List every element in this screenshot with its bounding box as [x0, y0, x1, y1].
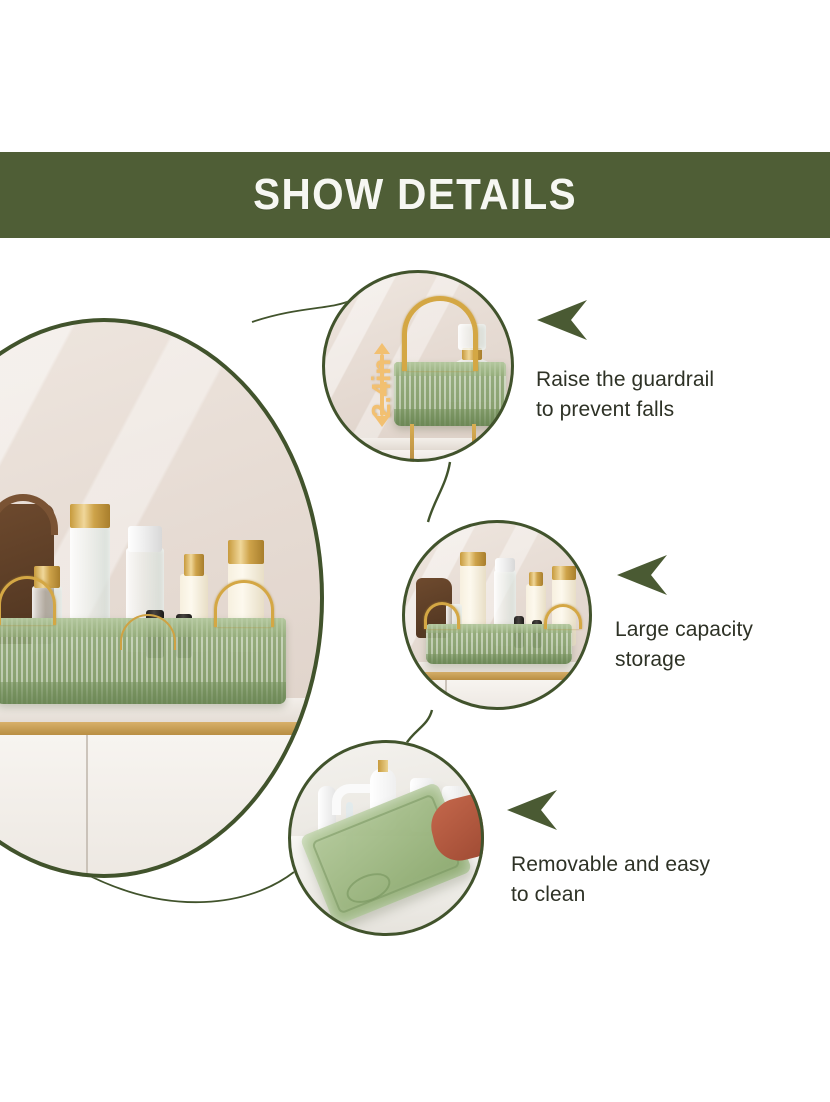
detail1-cabinet — [322, 450, 514, 462]
organizer-tray — [426, 624, 572, 664]
measure-arrow-head-up — [374, 343, 390, 354]
bottle-cap-gold — [184, 554, 204, 576]
dispenser-cap-gold — [378, 760, 388, 772]
feature-caption-cleaning: Removable and easy to clean — [511, 850, 811, 910]
feature-caption-capacity: Large capacity storage — [615, 615, 830, 675]
detail-photo-capacity — [402, 520, 592, 710]
measure-arrow-shaft — [380, 354, 384, 416]
pointer-arrow-capacity — [611, 553, 669, 597]
left-dart-arrow-icon — [501, 788, 559, 832]
bottle-cap-gold — [552, 566, 576, 580]
bottle-cap-gold — [70, 504, 110, 528]
hero-counter-edge — [0, 722, 324, 735]
left-dart-arrow-icon — [531, 298, 589, 342]
bottle-cap-gold — [460, 552, 486, 566]
left-dart-arrow-icon — [611, 553, 669, 597]
hero-scene — [0, 318, 324, 878]
detail2-cabinet — [402, 680, 592, 710]
pointer-arrow-guardrail — [531, 298, 589, 342]
tray-stand-leg — [472, 424, 476, 462]
bottle-cap-white — [128, 526, 162, 552]
bottle-cap-gold — [228, 540, 264, 564]
cabinet-seam — [86, 735, 88, 878]
tray-base — [0, 682, 286, 704]
pointer-arrow-cleaning — [501, 788, 559, 832]
detail-photo-cleaning — [288, 740, 484, 936]
detail2-counter-edge — [402, 672, 592, 680]
detail1-counter — [322, 438, 514, 450]
infographic-stage: SHOW DETAILS — [0, 0, 830, 1102]
tray-closeup — [394, 362, 506, 426]
main-product-photo — [0, 318, 324, 878]
section-header-banner: SHOW DETAILS — [0, 152, 830, 238]
tray-stand-leg — [410, 424, 414, 462]
hero-cabinet — [0, 735, 324, 878]
detail-photo-guardrail: 2.4in — [322, 270, 514, 462]
cabinet-seam — [445, 680, 447, 710]
feature-caption-guardrail: Raise the guardrail to prevent falls — [536, 365, 806, 425]
bottle-cap-gold — [529, 572, 543, 586]
guardrail-handle — [402, 296, 478, 371]
measure-arrow-head-down — [374, 416, 390, 427]
bottle-cap-white — [495, 558, 515, 572]
page-title: SHOW DETAILS — [253, 170, 577, 220]
tray-base — [426, 654, 572, 664]
